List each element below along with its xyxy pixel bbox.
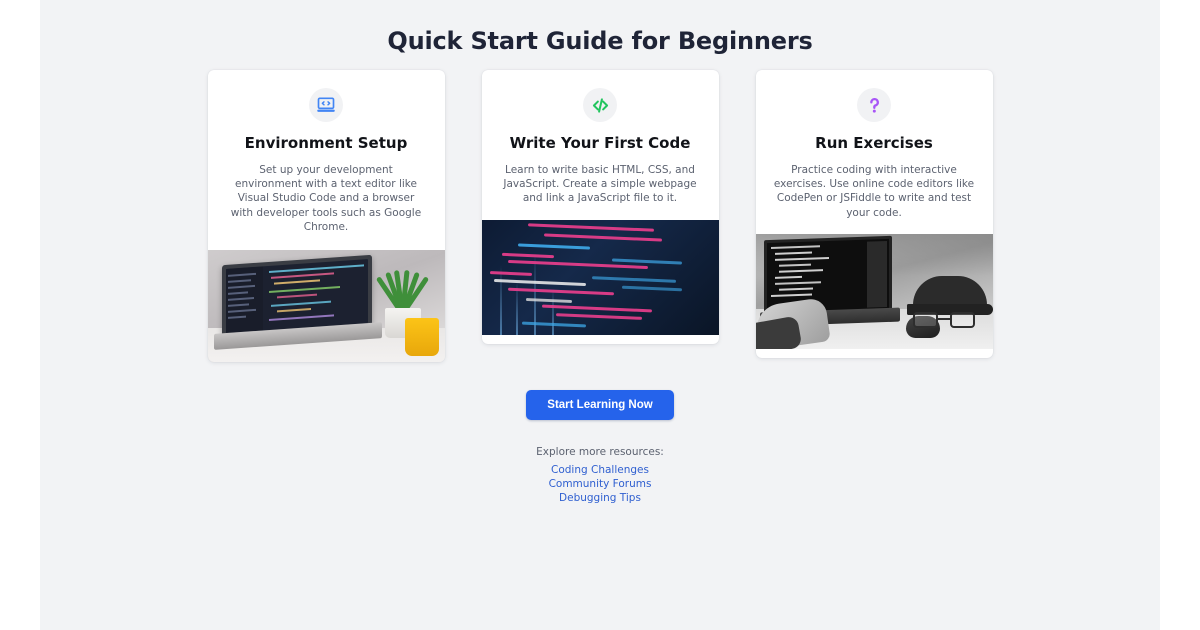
link-coding-challenges[interactable]: Coding Challenges [40, 463, 1160, 477]
card-grid: Environment Setup Set up your developmen… [40, 70, 1160, 362]
card-environment-setup[interactable]: Environment Setup Set up your developmen… [208, 70, 445, 362]
card-description: Learn to write basic HTML, CSS, and Java… [498, 163, 703, 206]
laptop-code-icon [309, 88, 343, 122]
page-container: Quick Start Guide for Beginners Environm… [40, 0, 1160, 630]
card-run-exercises[interactable]: Run Exercises Practice coding with inter… [756, 70, 993, 358]
link-debugging-tips[interactable]: Debugging Tips [40, 491, 1160, 505]
glasses-decor [913, 312, 975, 330]
card-write-your-first-code[interactable]: Write Your First Code Learn to write bas… [482, 70, 719, 344]
plant-decor [377, 256, 423, 314]
card-title: Run Exercises [772, 134, 977, 152]
card-image-laptop-desk [208, 250, 445, 362]
start-learning-now-button[interactable]: Start Learning Now [526, 390, 673, 420]
card-image-code-closeup [482, 220, 719, 335]
page-title: Quick Start Guide for Beginners [40, 27, 1160, 55]
card-body: Write Your First Code Learn to write bas… [482, 70, 719, 206]
card-description: Practice coding with interactive exercis… [772, 163, 977, 220]
link-community-forums[interactable]: Community Forums [40, 477, 1160, 491]
card-body: Environment Setup Set up your developmen… [208, 70, 445, 234]
question-mark-icon [857, 88, 891, 122]
card-body: Run Exercises Practice coding with inter… [756, 70, 993, 220]
resource-links: Coding Challenges Community Forums Debug… [40, 463, 1160, 506]
explore-resources-label: Explore more resources: [40, 446, 1160, 458]
card-image-workspace-bw [756, 234, 993, 349]
card-title: Write Your First Code [498, 134, 703, 152]
card-title: Environment Setup [224, 134, 429, 152]
cta-container: Start Learning Now [40, 390, 1160, 420]
card-description: Set up your development environment with… [224, 163, 429, 234]
code-brackets-icon [583, 88, 617, 122]
